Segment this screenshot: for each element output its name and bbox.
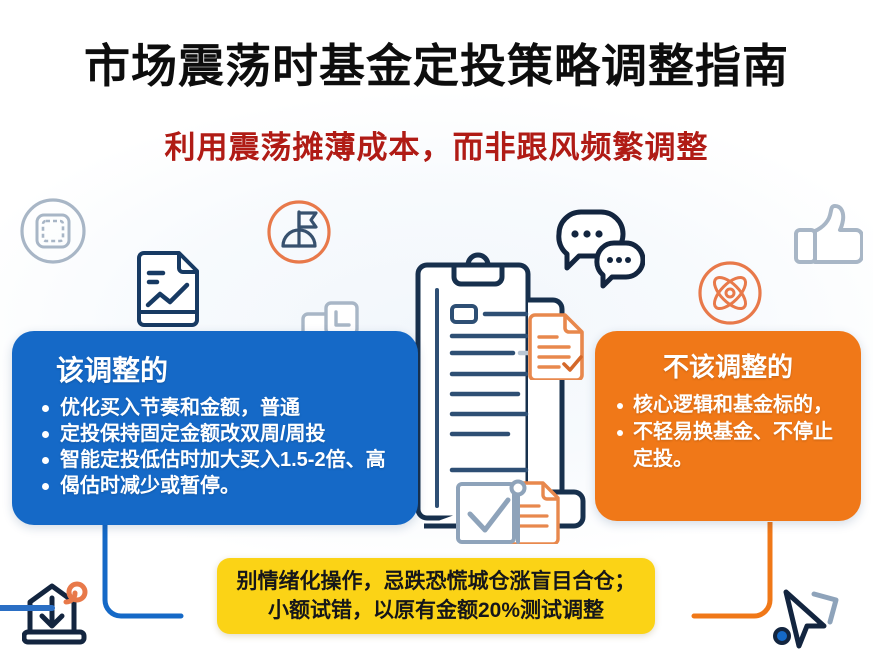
connector-blue-tab	[0, 598, 60, 618]
list-item: 核心逻辑和基金标的，	[617, 392, 849, 419]
page-subtitle: 利用震荡摊薄成本，而非跟风频繁调整	[0, 122, 873, 167]
list-item: 智能定投低估时加大买入1.5-2倍、高	[42, 447, 408, 473]
panel-should-adjust: 该调整的 优化买入节奏和金额，普通 定投保持固定金额改双周/周投 智能定投低估时…	[12, 331, 418, 525]
list-item: 定投保持固定金额改双周/周投	[42, 421, 408, 447]
panel-should-adjust-list: 优化买入节奏和金额，普通 定投保持固定金额改双周/周投 智能定投低估时加大买入1…	[12, 389, 418, 499]
atom-circle-icon	[695, 258, 765, 328]
callout-line-1: 别情绪化操作，忌跌恐慌城仓涨盲目合仓；	[237, 567, 636, 596]
page-title: 市场震荡时基金定投策略调整指南	[0, 30, 873, 96]
panel-should-not-adjust-list: 核心逻辑和基金标的， 不轻易换基金、不停止定投。	[595, 384, 861, 473]
list-item: 不轻易换基金、不停止定投。	[617, 419, 849, 473]
chat-bubbles-icon	[555, 208, 645, 290]
thumbs-up-icon	[793, 203, 863, 271]
panel-should-adjust-heading: 该调整的	[12, 331, 418, 389]
checkbox-square-icon	[452, 476, 530, 554]
flag-hill-circle-icon	[265, 198, 333, 266]
infographic-canvas: 市场震荡时基金定投策略调整指南 利用震荡摊薄成本，而非跟风频繁调整	[0, 0, 873, 667]
panel-should-not-adjust: 不该调整的 核心逻辑和基金标的， 不轻易换基金、不停止定投。	[595, 331, 861, 521]
callout-line-2: 小额试错，以原有金额20%测试调整	[268, 596, 604, 625]
callout-advice: 别情绪化操作，忌跌恐慌城仓涨盲目合仓； 小额试错，以原有金额20%测试调整	[217, 558, 655, 634]
dashed-frame-circle-icon	[18, 196, 88, 266]
panel-should-not-adjust-heading: 不该调整的	[595, 331, 861, 384]
list-item: 优化买入节奏和金额，普通	[42, 395, 408, 421]
chart-document-icon	[133, 249, 205, 329]
connector-orange	[635, 522, 775, 632]
list-item: 偈估时减少或暂停。	[42, 473, 408, 499]
cursor-arrow-icon	[770, 586, 854, 662]
checklist-document-icon	[525, 312, 587, 380]
